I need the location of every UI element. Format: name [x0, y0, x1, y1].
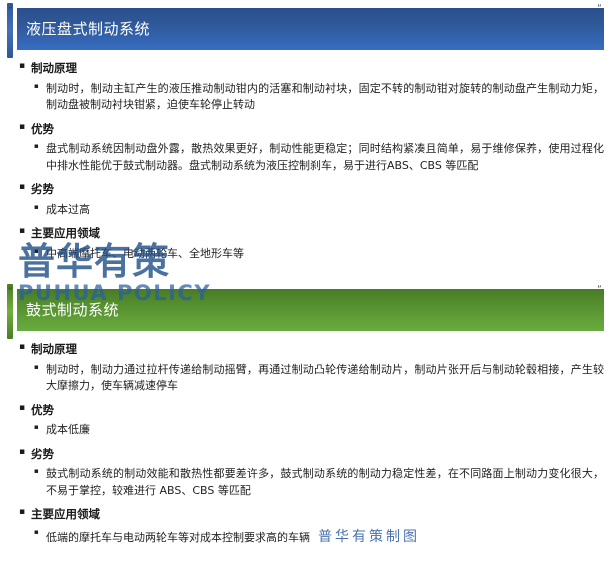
list-item: 成本过高 [31, 202, 604, 219]
group-heading-disadvantage-hydraulic: 劣势 成本过高 [17, 182, 604, 218]
section-title-hydraulic: 液压盘式制动系统 [26, 21, 150, 38]
heading-text: 劣势 [31, 447, 54, 463]
sub-list: 成本过高 [31, 202, 604, 219]
list-item: 鼓式制动系统的制动效能和散热性都要差许多，鼓式制动系统的制动力稳定性差，在不同路… [31, 466, 604, 499]
heading-text: 优势 [31, 403, 54, 419]
list-item: 制动时，制动主缸产生的液压推动制动钳内的活塞和制动衬块，固定不转的制动钳对旋转的… [31, 81, 604, 114]
sub-list: 制动时，制动力通过拉杆传递给制动摇臂，再通过制动凸轮传递给制动片，制动片张开后与… [31, 362, 604, 395]
group-heading-application-hydraulic: 主要应用领域 中高端摩托车、电动两轮车、全地形车等 [17, 226, 604, 262]
title-band-blue[interactable]: 液压盘式制动系统 [17, 8, 604, 50]
list-item: 成本低廉 [31, 422, 604, 439]
content-hydraulic: 制动原理 制动时，制动主缸产生的液压推动制动钳内的活塞和制动衬块，固定不转的制动… [17, 53, 604, 262]
heading-text: 优势 [31, 122, 54, 138]
heading-text: 制动原理 [31, 61, 77, 77]
list-item-text: 低端的摩托车与电动两轮车等对成本控制要求高的车辆 [46, 531, 310, 544]
section-drum-brake: 鼓式制动系统 制动原理 制动时，制动力通过拉杆传递给制动摇臂，再通过制动凸轮传递… [0, 281, 611, 331]
sub-list: 成本低廉 [31, 422, 604, 439]
sub-list: 中高端摩托车、电动两轮车、全地形车等 [31, 246, 604, 263]
placeholder-handle-top-left-2: ” [8, 289, 15, 296]
section-hydraulic-disc-brake: 液压盘式制动系统 制动原理 制动时，制动主缸产生的液压推动制动钳内的活塞和制动衬… [0, 0, 611, 50]
group-heading-principle-drum: 制动原理 制动时，制动力通过拉杆传递给制动摇臂，再通过制动凸轮传递给制动片，制动… [17, 342, 604, 395]
content-drum: 制动原理 制动时，制动力通过拉杆传递给制动摇臂，再通过制动凸轮传递给制动片，制动… [17, 334, 604, 548]
heading-text: 主要应用领域 [31, 226, 100, 242]
section-title-drum: 鼓式制动系统 [26, 302, 119, 319]
list-item: 中高端摩托车、电动两轮车、全地形车等 [31, 246, 604, 263]
heading-text: 劣势 [31, 182, 54, 198]
list-item: 盘式制动系统因制动盘外露，散热效果更好，制动性能更稳定；同时结构紧凑且简单，易于… [31, 141, 604, 174]
sub-list: 制动时，制动主缸产生的液压推动制动钳内的活塞和制动衬块，固定不转的制动钳对旋转的… [31, 81, 604, 114]
title-band-green[interactable]: 鼓式制动系统 [17, 289, 604, 331]
section-header-drum[interactable]: 鼓式制动系统 [0, 281, 611, 331]
heading-text: 主要应用领域 [31, 507, 100, 523]
group-heading-advantage-drum: 优势 成本低廉 [17, 403, 604, 439]
sub-list: 低端的摩托车与电动两轮车等对成本控制要求高的车辆普华有策制图 [31, 527, 604, 548]
sub-list: 盘式制动系统因制动盘外露，散热效果更好，制动性能更稳定；同时结构紧凑且简单，易于… [31, 141, 604, 174]
bullet-list-drum: 制动原理 制动时，制动力通过拉杆传递给制动摇臂，再通过制动凸轮传递给制动片，制动… [17, 342, 604, 548]
chart-credit-label: 普华有策制图 [318, 529, 420, 545]
placeholder-handle-top-right-1: ” [597, 6, 604, 13]
placeholder-handle-top-left-1: ” [8, 8, 15, 15]
group-heading-application-drum: 主要应用领域 低端的摩托车与电动两轮车等对成本控制要求高的车辆普华有策制图 [17, 507, 604, 548]
slide-canvas: 液压盘式制动系统 制动原理 制动时，制动主缸产生的液压推动制动钳内的活塞和制动衬… [0, 0, 611, 566]
list-item: 制动时，制动力通过拉杆传递给制动摇臂，再通过制动凸轮传递给制动片，制动片张开后与… [31, 362, 604, 395]
group-heading-principle-hydraulic: 制动原理 制动时，制动主缸产生的液压推动制动钳内的活塞和制动衬块，固定不转的制动… [17, 61, 604, 114]
heading-text: 制动原理 [31, 342, 77, 358]
group-heading-advantage-hydraulic: 优势 盘式制动系统因制动盘外露，散热效果更好，制动性能更稳定；同时结构紧凑且简单… [17, 122, 604, 175]
bullet-list-hydraulic: 制动原理 制动时，制动主缸产生的液压推动制动钳内的活塞和制动衬块，固定不转的制动… [17, 61, 604, 262]
placeholder-handle-top-right-2: ” [597, 287, 604, 294]
group-heading-disadvantage-drum: 劣势 鼓式制动系统的制动效能和散热性都要差许多，鼓式制动系统的制动力稳定性差，在… [17, 447, 604, 500]
sub-list: 鼓式制动系统的制动效能和散热性都要差许多，鼓式制动系统的制动力稳定性差，在不同路… [31, 466, 604, 499]
list-item: 低端的摩托车与电动两轮车等对成本控制要求高的车辆普华有策制图 [31, 527, 604, 548]
section-header-hydraulic[interactable]: 液压盘式制动系统 [0, 0, 611, 50]
